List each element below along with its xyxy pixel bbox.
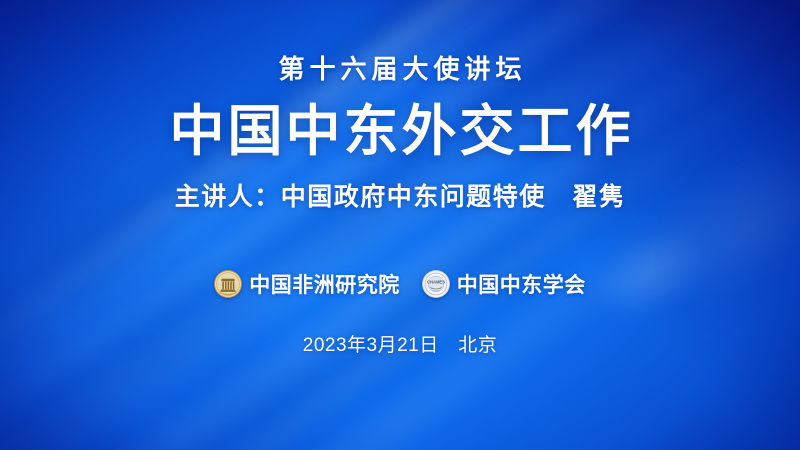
organizer-china-africa-institute: 中国非洲研究院 [214, 270, 400, 298]
speaker-line: 主讲人：中国政府中东问题特使 翟隽 [175, 182, 626, 212]
organizer-name: 中国中东学会 [457, 274, 586, 295]
forum-series-title: 第十六届大使讲坛 [273, 56, 526, 86]
chinese-association-middle-east-studies-seal-icon: CHAMES [422, 270, 450, 298]
organizer-logos: 中国非洲研究院 CHAMES 中国中东学会 [214, 270, 586, 298]
organizer-name: 中国非洲研究院 [249, 274, 400, 295]
organizer-chinese-association-middle-east-studies: CHAMES 中国中东学会 [422, 270, 586, 298]
seal-acronym-text: CHAMES [427, 280, 445, 285]
slide-content: 第十六届大使讲坛 中国中东外交工作 主讲人：中国政府中东问题特使 翟隽 [0, 0, 800, 450]
title-slide: 第十六届大使讲坛 中国中东外交工作 主讲人：中国政府中东问题特使 翟隽 [0, 0, 800, 450]
date-and-city: 2023年3月21日 北京 [303, 330, 497, 357]
lecture-main-title: 中国中东外交工作 [166, 101, 633, 163]
china-africa-institute-seal-icon [214, 270, 242, 298]
